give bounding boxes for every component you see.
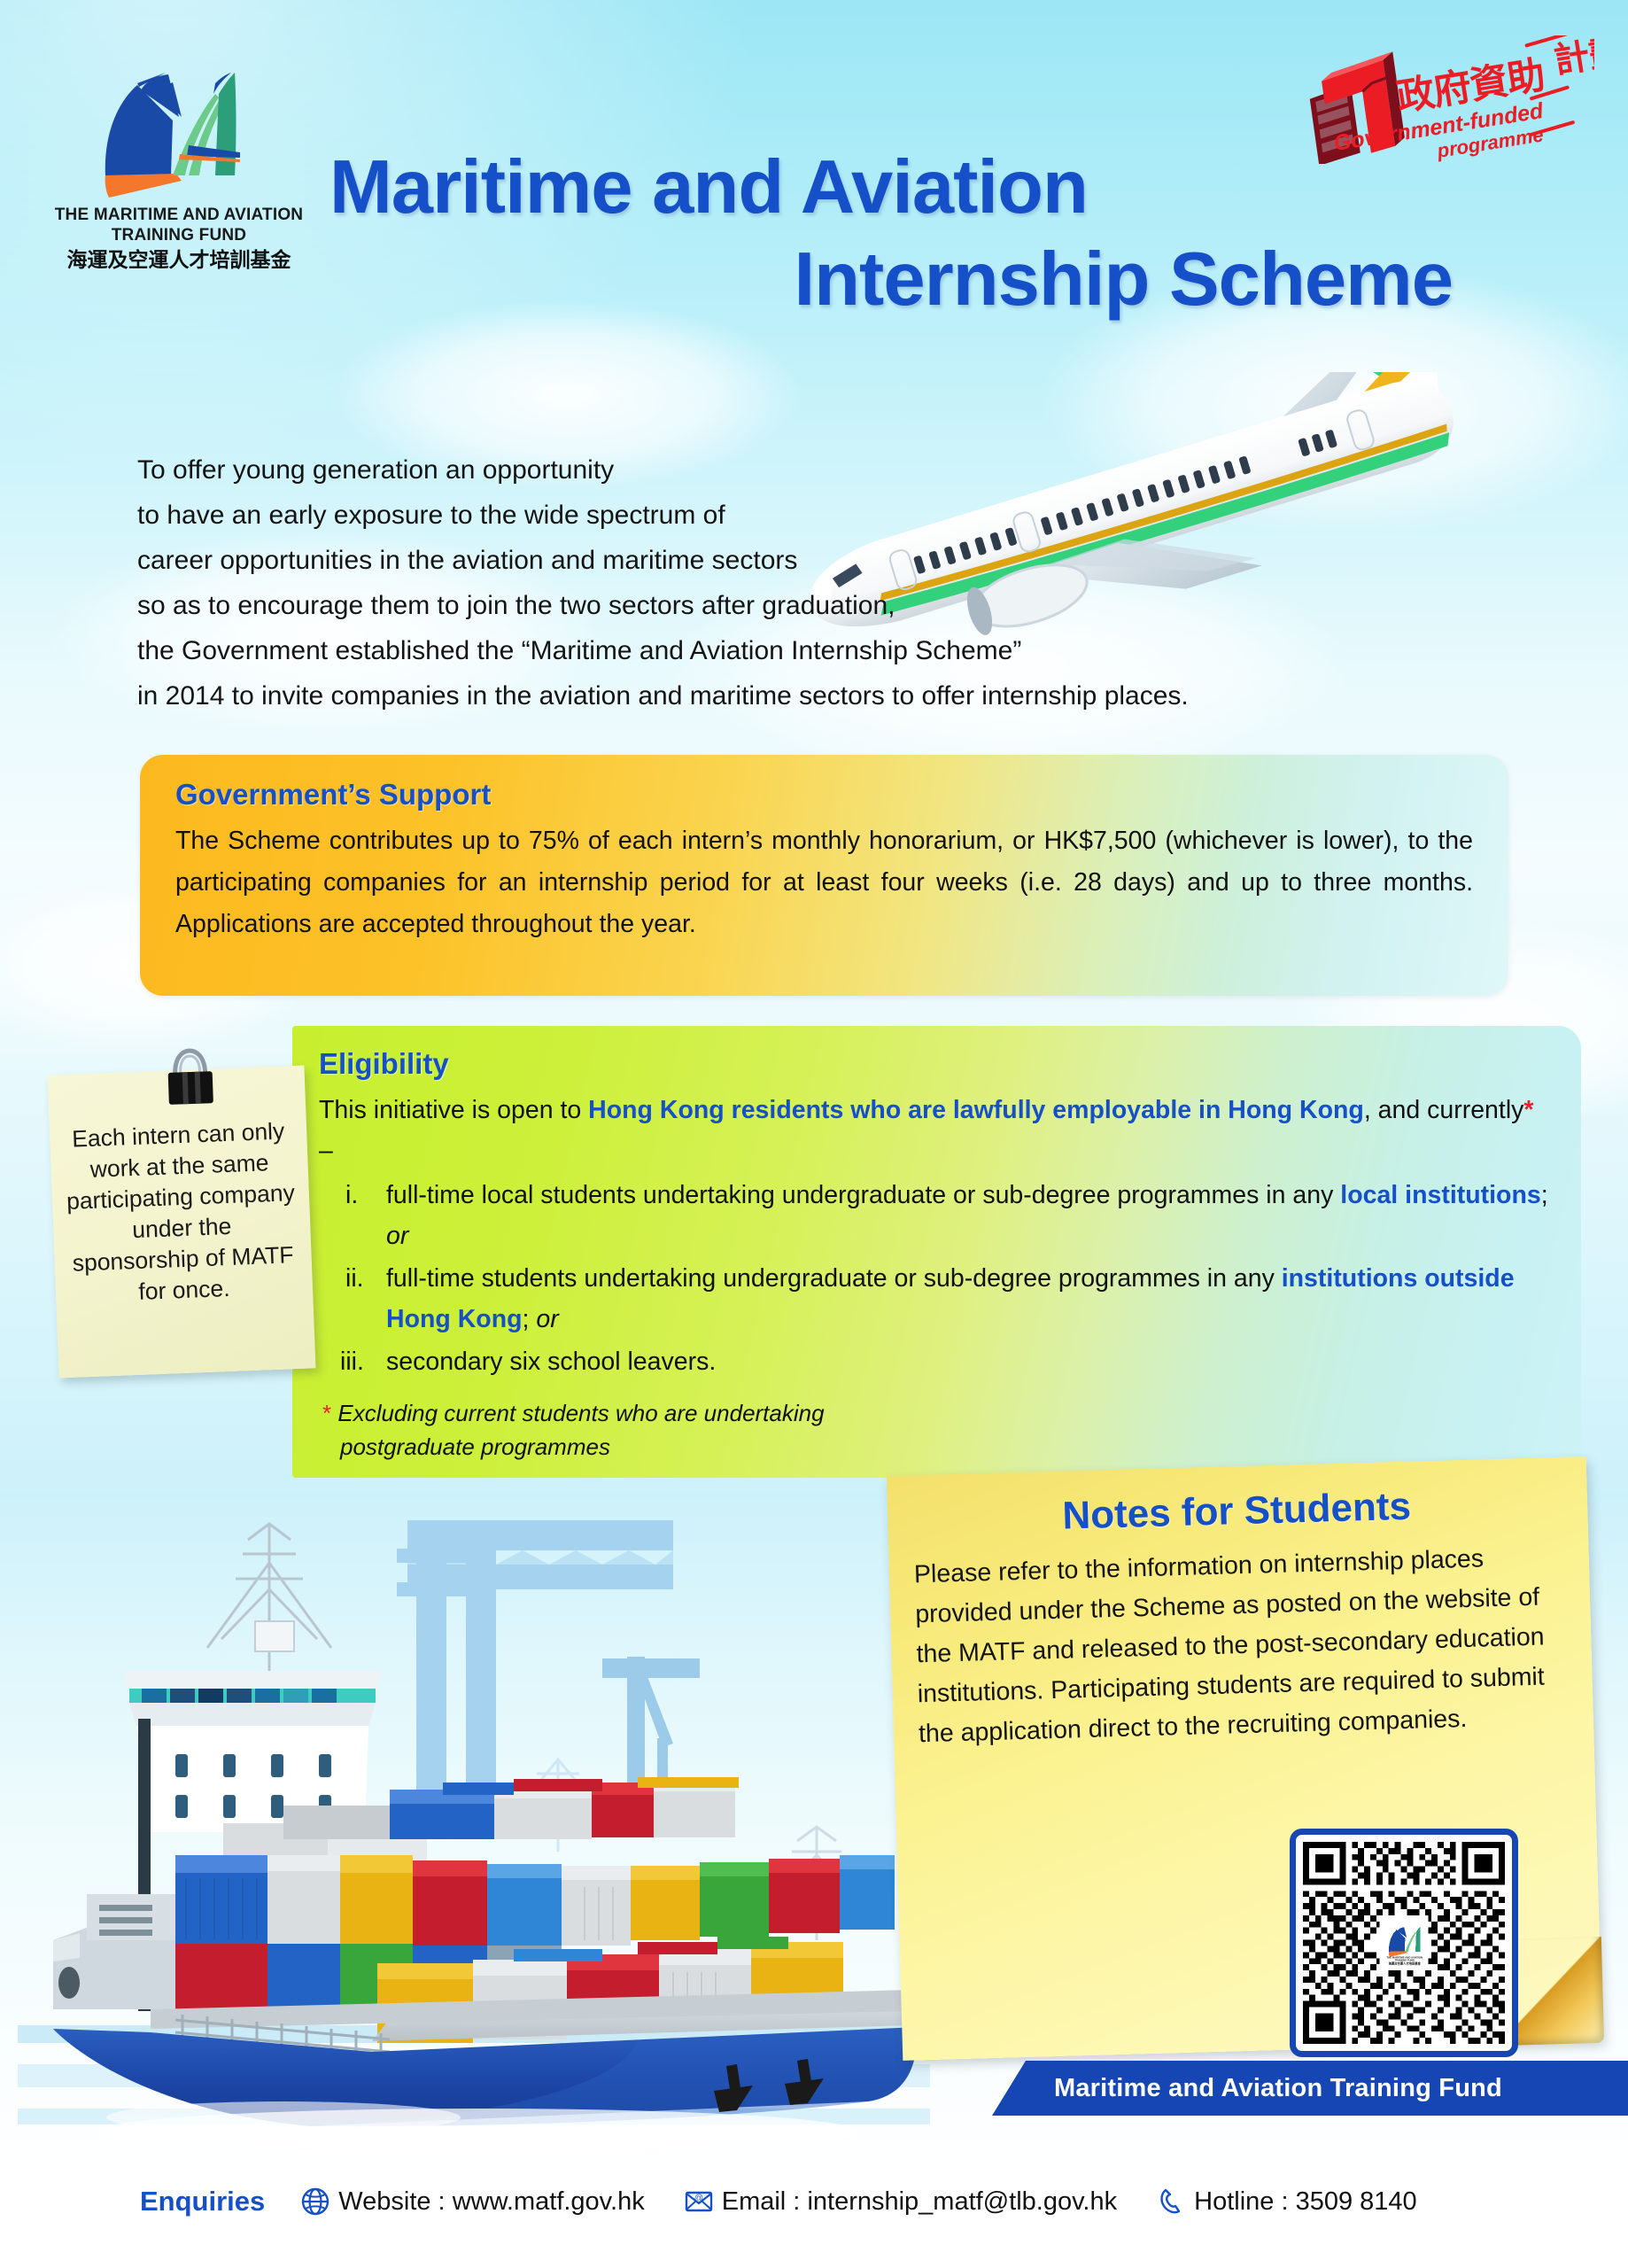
government-support-heading: Government’s Support [175,778,1473,812]
container-ship-icon [18,1497,930,2171]
footer-banner-text: Maritime and Aviation Training Fund [992,2074,1502,2103]
eligibility-item: iii.secondary six school leavers. [319,1341,1551,1382]
enquiry-hotline-value[interactable]: 3509 8140 [1296,2187,1417,2217]
matf-logo: THE MARITIME AND AVIATION TRAINING FUND … [46,41,312,272]
notes-for-students-heading: Notes for Students [912,1480,1562,1542]
eligibility-footnote-star: * [322,1400,331,1426]
intro-paragraph: To offer young generation an opportunity… [137,447,1395,718]
eligibility-lead-post: , and currently [1364,1096,1524,1124]
svg-text:@: @ [694,2194,703,2203]
eligibility-lead-bold: Hong Kong residents who are lawfully emp… [588,1096,1364,1124]
enquiry-email-label: Email : [722,2187,801,2217]
page-title: Maritime and Aviation Internship Scheme [319,142,1461,326]
enquiry-email[interactable]: @ Email : internship_matf@tlb.gov.hk [684,2186,1117,2217]
globe-icon [300,2186,330,2217]
title-line-1: Maritime and Aviation [319,142,1461,234]
eligibility-lead-dash: – [319,1137,333,1165]
envelope-icon: @ [684,2186,714,2217]
eligibility-item-numeral: ii. [345,1258,386,1299]
eligibility-item-pre: secondary six school leavers. [386,1348,716,1376]
enquiry-hotline[interactable]: Hotline : 3509 8140 [1156,2186,1417,2217]
intro-line: in 2014 to invite companies in the aviat… [137,673,1395,718]
intro-line: so as to encourage them to join the two … [137,583,1395,628]
eligibility-item-post: ; [523,1305,537,1333]
eligibility-footnote-line-2: postgraduate programmes [322,1433,610,1460]
enquiry-email-value[interactable]: internship_matf@tlb.gov.hk [807,2187,1117,2217]
eligibility-item-bold: local institutions [1340,1181,1540,1209]
eligibility-item-numeral: i. [345,1175,386,1216]
eligibility-card: Eligibility This initiative is open to H… [292,1026,1581,1478]
eligibility-lead-star: * [1523,1096,1533,1124]
eligibility-heading: Eligibility [319,1047,1551,1081]
enquiry-website-value[interactable]: www.matf.gov.hk [453,2187,645,2217]
notes-for-students-body: Please refer to the information on inter… [913,1537,1567,1754]
binder-clip-icon [160,1046,221,1115]
eligibility-item-post: ; [1541,1181,1548,1209]
eligibility-item-or: or [536,1305,558,1333]
government-support-body: The Scheme contributes up to 75% of each… [175,820,1473,945]
intro-line: career opportunities in the aviation and… [137,538,1395,583]
gov-badge-chinese-sub: 計劃 [1551,35,1594,81]
enquiry-website-label: Website : [338,2187,445,2217]
enquiries-label: Enquiries [140,2186,265,2218]
svg-text:TRAINING FUND: TRAINING FUND [1395,1959,1415,1962]
qr-code-icon[interactable]: THE MARITIME AND AVIATION TRAINING FUND … [1303,1842,1505,2044]
logo-line-1: THE MARITIME AND AVIATION [46,205,312,225]
poster-canvas: THE MARITIME AND AVIATION TRAINING FUND … [0,0,1628,2268]
intro-line: To offer young generation an opportunity [137,447,1395,493]
eligibility-list: i.full-time local students undertaking u… [319,1175,1551,1382]
logo-chinese: 海運及空運人才培訓基金 [46,247,312,272]
matf-sail-logo-icon [84,41,275,205]
government-support-card: Government’s Support The Scheme contribu… [140,755,1508,996]
intro-line: the Government established the “Maritime… [137,628,1395,673]
logo-line-2: TRAINING FUND [46,225,312,245]
eligibility-item-pre: full-time local students undertaking und… [386,1181,1340,1209]
title-line-2: Internship Scheme [319,234,1461,326]
enquiry-website[interactable]: Website : www.matf.gov.hk [300,2186,644,2217]
footer-banner: Maritime and Aviation Training Fund [992,2061,1628,2116]
eligibility-item-numeral: iii. [340,1341,381,1382]
eligibility-lead-pre: This initiative is open to [319,1096,588,1124]
qr-code[interactable]: THE MARITIME AND AVIATION TRAINING FUND … [1290,1829,1518,2057]
eligibility-item-pre: full-time students undertaking undergrad… [386,1264,1282,1293]
intro-line: to have an early exposure to the wide sp… [137,493,1395,538]
sticky-note-text: Each intern can only work at the same pa… [62,1115,301,1310]
eligibility-lead: This initiative is open to Hong Kong res… [319,1090,1551,1171]
svg-text:THE MARITIME AND AVIATION: THE MARITIME AND AVIATION [1386,1955,1423,1959]
eligibility-footnote: * Excluding current students who are und… [319,1396,1551,1464]
eligibility-footnote-line-1: Excluding current students who are under… [331,1400,824,1426]
eligibility-item: ii.full-time students undertaking underg… [319,1258,1551,1340]
eligibility-item-or: or [386,1222,408,1250]
eligibility-item: i.full-time local students undertaking u… [319,1175,1551,1256]
enquiries-bar: Enquiries Website : www.matf.gov.hk @ Em… [0,2172,1628,2231]
phone-icon [1156,2186,1186,2217]
enquiry-hotline-label: Hotline : [1194,2187,1288,2217]
